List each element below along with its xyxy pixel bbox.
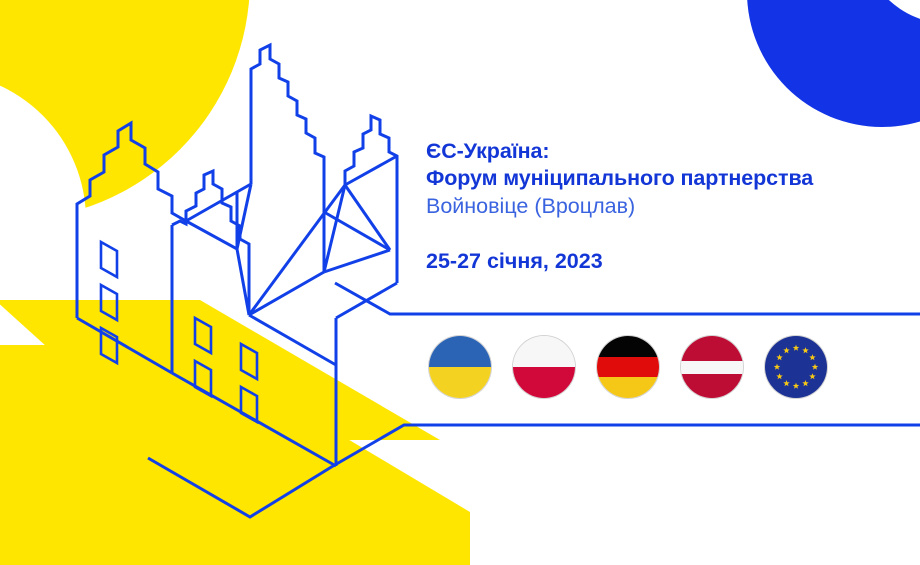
flag-germany-icon (597, 336, 659, 398)
east-gable-outline (345, 116, 397, 283)
eu-stars-circle (765, 336, 827, 398)
flag-band (681, 336, 743, 361)
inner-roof-east-slope (345, 185, 390, 250)
flag-band (681, 374, 743, 398)
flag-band (681, 361, 743, 375)
flag-band (597, 336, 659, 357)
isometric-line-art (0, 0, 920, 565)
headline-location: Войновіце (Вроцлав) (426, 192, 896, 221)
flag-band (597, 357, 659, 378)
window (241, 387, 257, 422)
inner-roof-ridge-left (237, 184, 251, 249)
flag-band (429, 336, 491, 367)
headline-line-1: ЄС-Україна: (426, 138, 896, 165)
event-date: 25-27 січня, 2023 (426, 248, 896, 274)
window (195, 361, 211, 396)
flag-ukraine-icon (429, 336, 491, 398)
west-facade-bottom-edge (77, 318, 172, 373)
inner-roof-ridge-center (249, 272, 324, 315)
inner-roof-right (324, 250, 390, 272)
flag-poland-icon (513, 336, 575, 398)
window (241, 344, 257, 379)
ground-line-upper-right (335, 283, 920, 314)
west-gable-outline (77, 123, 186, 318)
headline-line-2: Форум муніципального партнерства (426, 165, 896, 192)
south-facade-windows (195, 318, 257, 422)
partner-flags-row (429, 336, 827, 398)
headline-block: ЄС-Україна: Форум муніципального партнер… (426, 138, 896, 274)
inner-roof-left (186, 192, 237, 249)
west-facade-windows (101, 242, 117, 363)
flag-eu-icon (765, 336, 827, 398)
window (101, 285, 117, 320)
flag-band (513, 367, 575, 398)
flag-band (597, 377, 659, 398)
ground-line-lower (148, 425, 920, 517)
flag-band (513, 336, 575, 367)
window (101, 242, 117, 277)
window (195, 318, 211, 353)
flag-latvia-icon (681, 336, 743, 398)
inner-wall-edge-left (237, 249, 249, 315)
poster-canvas: ЄС-Україна: Форум муніципального партнер… (0, 0, 920, 565)
south-gable-base-edge (249, 315, 336, 365)
north-gable-outline (251, 45, 324, 212)
flag-band (429, 367, 491, 398)
